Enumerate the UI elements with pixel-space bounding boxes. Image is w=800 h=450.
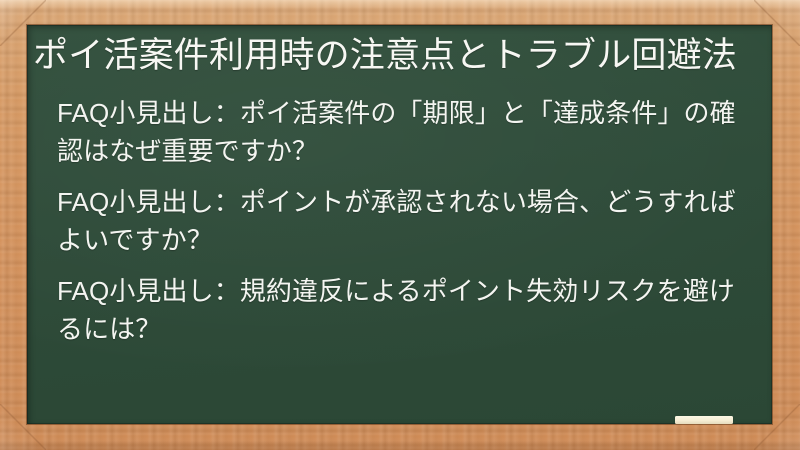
slide-title: ポイ活案件利用時の注意点とトラブル回避法 — [33, 34, 754, 78]
chalkboard-wooden-frame: ポイ活案件利用時の注意点とトラブル回避法 FAQ小見出し：ポイ活案件の「期限」と… — [0, 0, 800, 450]
faq-item-1: FAQ小見出し：ポイ活案件の「期限」と「達成条件」の確認はなぜ重要ですか？ — [57, 95, 750, 171]
frame-bottom-shadow — [0, 440, 800, 450]
frame-top-highlight — [0, 0, 800, 9]
chalkboard-content: ポイ活案件利用時の注意点とトラブル回避法 FAQ小見出し：ポイ活案件の「期限」と… — [27, 25, 772, 424]
faq-item-3: FAQ小見出し：規約違反によるポイント失効リスクを避けるには？ — [57, 273, 750, 349]
chalkboard-surface: ポイ活案件利用時の注意点とトラブル回避法 FAQ小見出し：ポイ活案件の「期限」と… — [27, 25, 772, 424]
faq-item-2: FAQ小見出し：ポイントが承認されない場合、どうすればよいですか？ — [57, 184, 750, 260]
faq-heading-list: FAQ小見出し：ポイ活案件の「期限」と「達成条件」の確認はなぜ重要ですか？ FA… — [33, 95, 754, 349]
chalk-stick-icon — [675, 416, 733, 424]
